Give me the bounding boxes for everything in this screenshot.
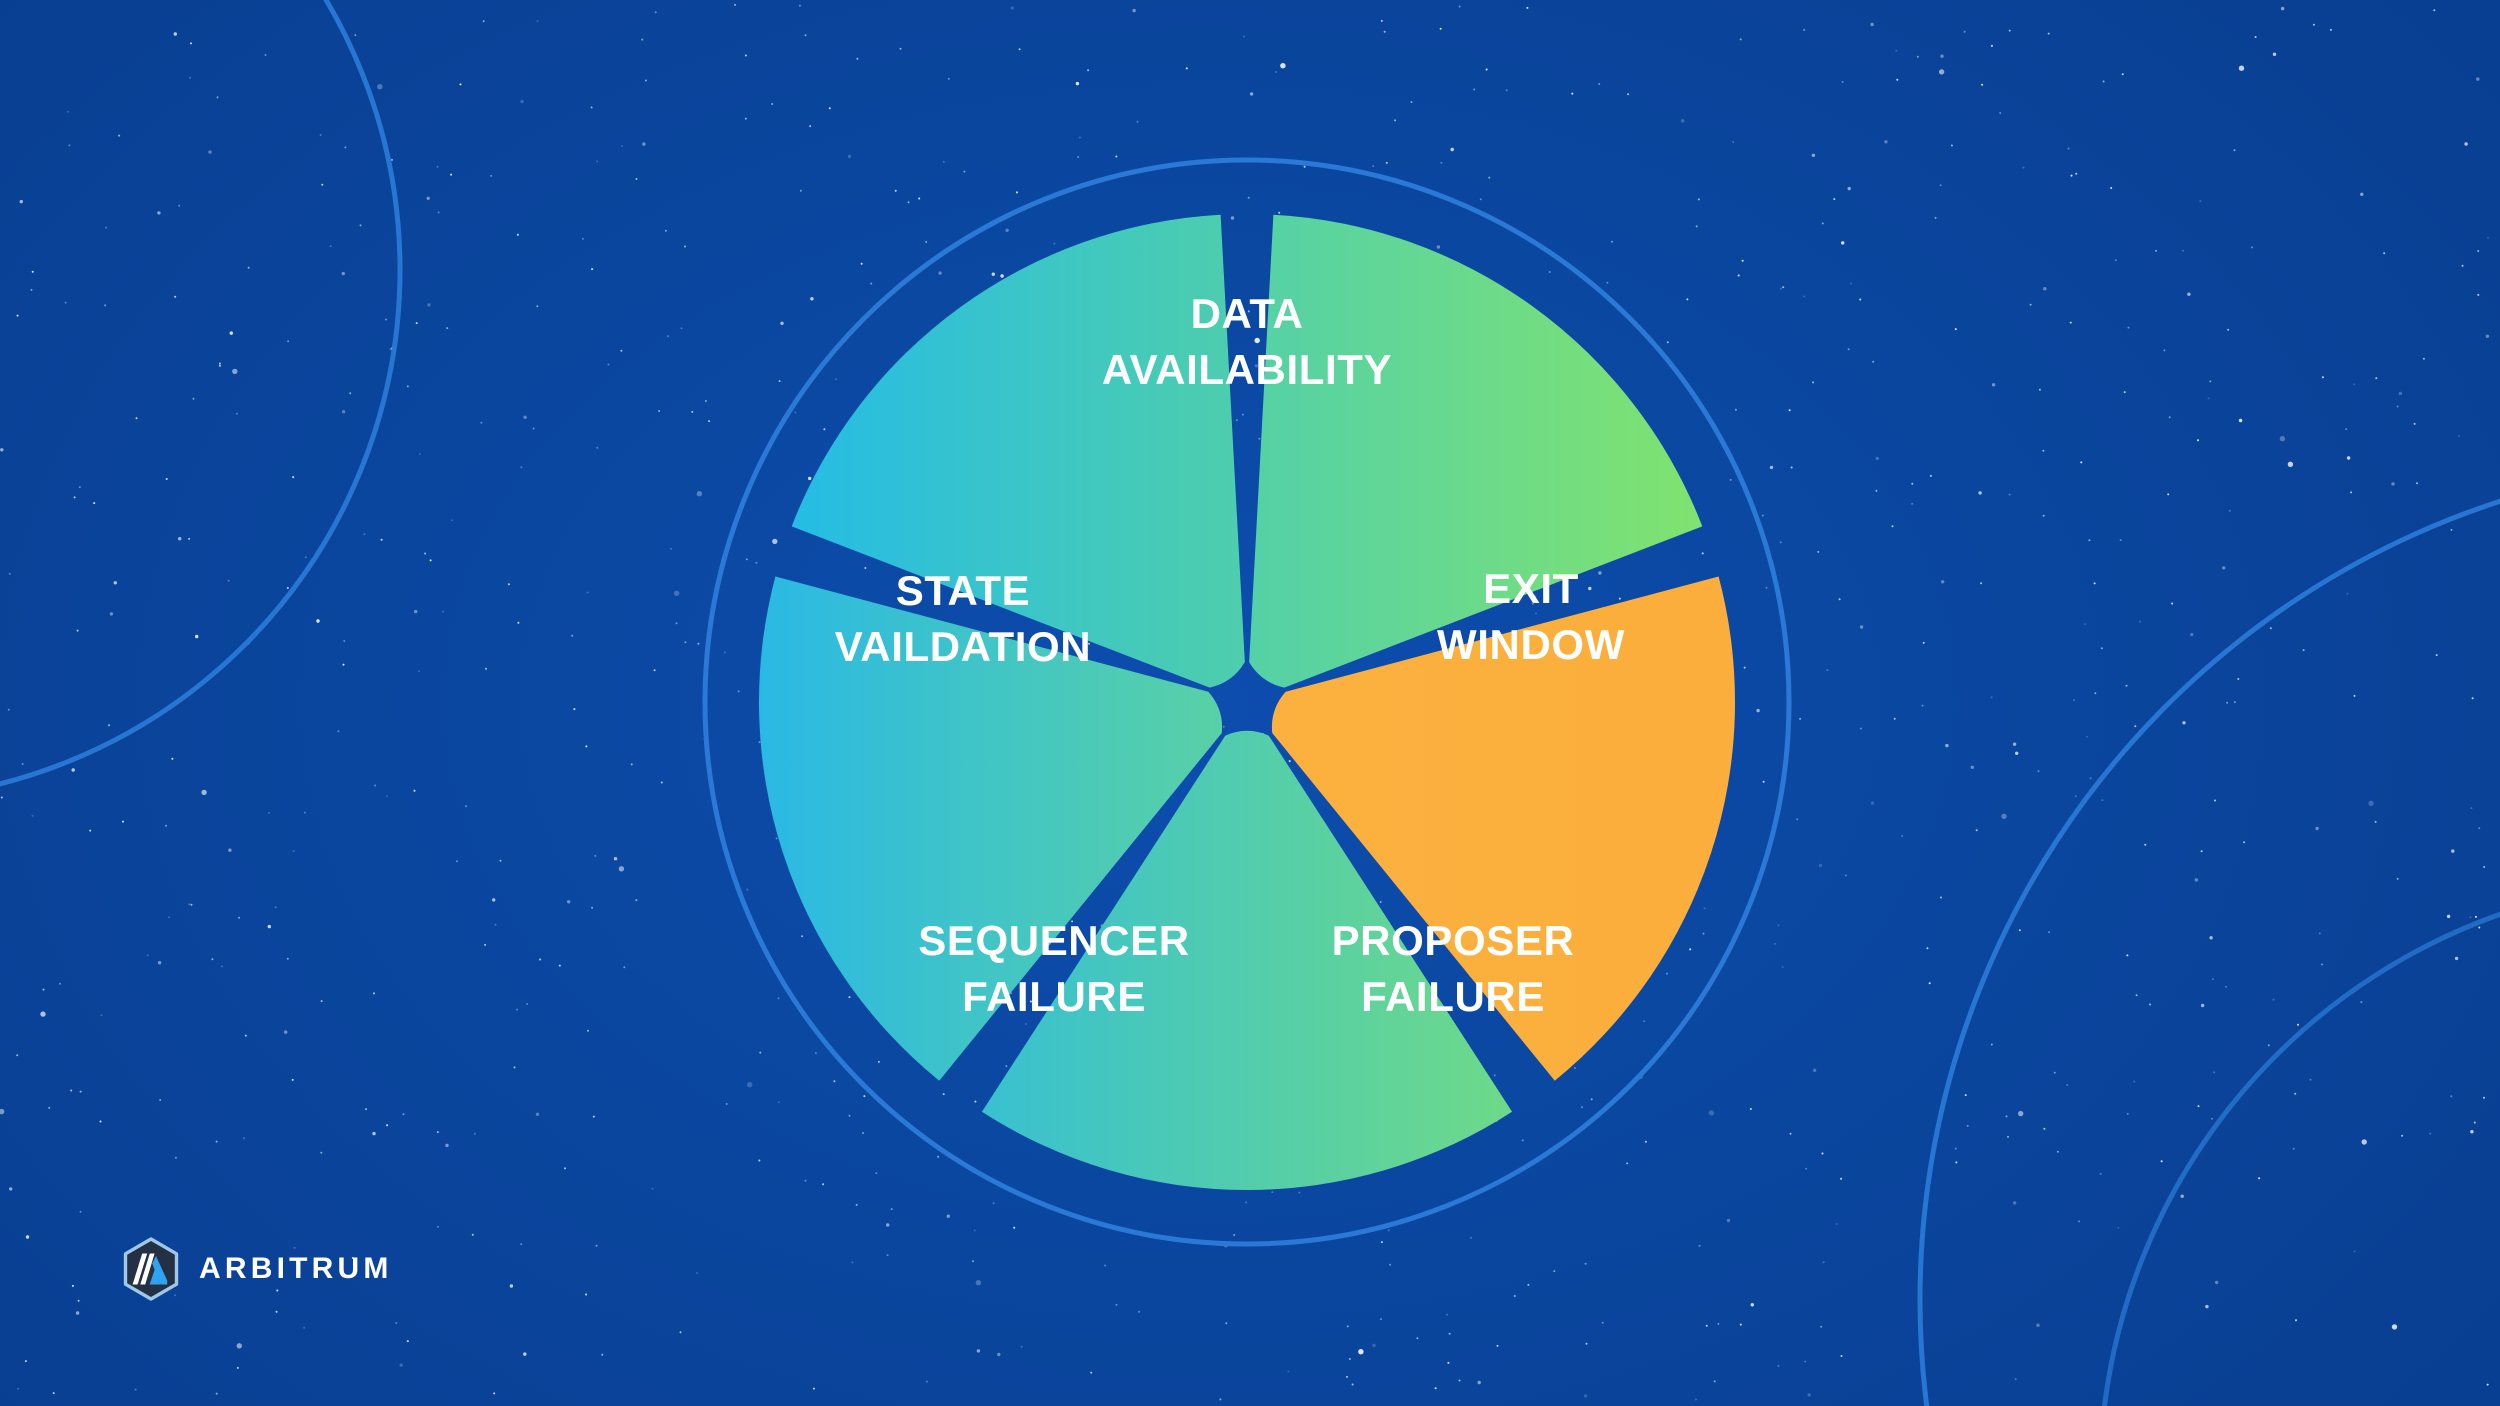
arbitrum-hexagon-logo-icon [122, 1237, 180, 1301]
pie-chart: DATAAVAILABILITYEXITWINDOWPROPOSERFAILUR… [0, 0, 2500, 1406]
poster-canvas: DATAAVAILABILITYEXITWINDOWPROPOSERFAILUR… [0, 0, 2500, 1406]
brand-name-text: ARBITRUM [199, 1254, 393, 1284]
arbitrum-brand-lockup: ARBITRUM [122, 1237, 393, 1301]
